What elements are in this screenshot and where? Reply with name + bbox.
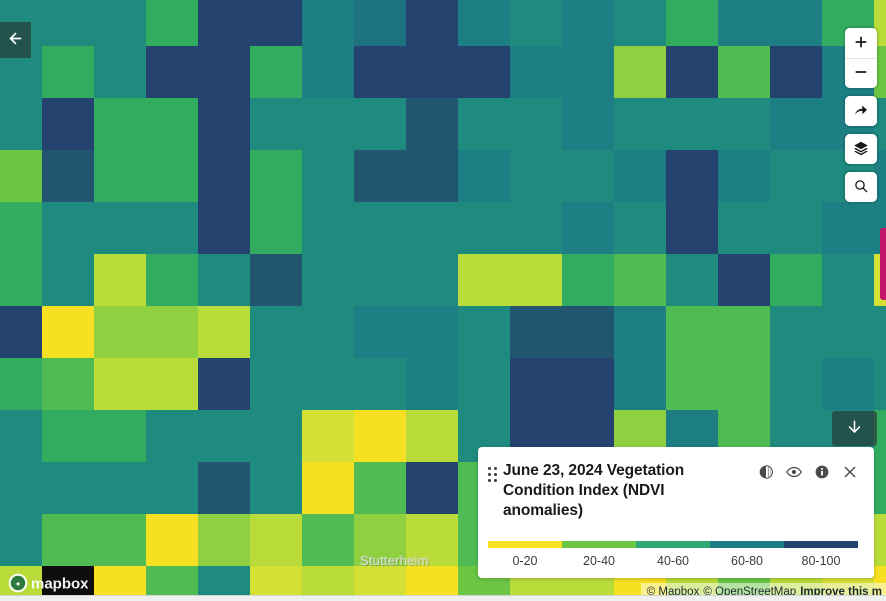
raster-cell [94,462,146,514]
raster-cell [562,46,614,98]
raster-cell [250,514,302,566]
search-button[interactable] [845,172,877,202]
share-button[interactable] [845,96,877,126]
map-application: Stutterheim [0,0,886,601]
raster-cell [614,46,666,98]
raster-cell [770,254,822,306]
raster-cell [0,462,42,514]
legend-scale-segment-4 [784,541,858,548]
raster-cell [666,306,718,358]
raster-cell [0,98,42,150]
legend-scale-bar [488,541,858,548]
raster-cell [250,254,302,306]
raster-cell [198,306,250,358]
raster-cell [458,306,510,358]
raster-cell [562,0,614,46]
raster-cell [250,150,302,202]
raster-cell [354,410,406,462]
raster-cell [510,202,562,254]
raster-cell [770,0,822,46]
minus-icon [853,64,869,83]
raster-cell [146,462,198,514]
raster-cell [562,150,614,202]
raster-cell [94,202,146,254]
close-button[interactable] [841,463,858,480]
raster-cell [510,0,562,46]
raster-cell [874,358,886,410]
raster-cell [458,202,510,254]
raster-cell [354,0,406,46]
zoom-control-stack [845,28,877,88]
raster-cell [406,202,458,254]
raster-cell [42,46,94,98]
raster-cell [458,46,510,98]
legend-title: June 23, 2024 Vegetation Condition Index… [503,461,751,520]
raster-cell [510,254,562,306]
raster-cell [770,150,822,202]
raster-cell [406,410,458,462]
raster-cell [510,98,562,150]
raster-cell [874,306,886,358]
raster-cell [562,254,614,306]
raster-cell [250,98,302,150]
raster-cell [822,202,874,254]
raster-cell [822,306,874,358]
raster-cell [354,150,406,202]
raster-cell [406,306,458,358]
visibility-button[interactable] [785,463,802,480]
raster-cell [406,254,458,306]
layer-legend-panel[interactable]: June 23, 2024 Vegetation Condition Index… [478,447,874,578]
legend-actions [757,463,858,480]
raster-cell [94,150,146,202]
raster-cell [94,514,146,566]
opacity-button[interactable] [757,463,774,480]
raster-cell [562,202,614,254]
raster-cell [354,462,406,514]
raster-cell [198,150,250,202]
raster-cell [614,98,666,150]
raster-cell [666,98,718,150]
raster-cell [874,514,886,566]
raster-cell [198,462,250,514]
zoom-out-button[interactable] [845,58,877,88]
raster-cell [42,254,94,306]
raster-cell [354,358,406,410]
raster-cell [770,98,822,150]
info-button[interactable] [813,463,830,480]
raster-cell [406,0,458,46]
raster-cell [406,46,458,98]
raster-cell [510,150,562,202]
raster-cell [510,46,562,98]
raster-cell [94,46,146,98]
raster-cell [822,254,874,306]
raster-cell [250,202,302,254]
legend-scale-label-4: 80-100 [784,554,858,568]
arrow-left-icon [7,30,24,50]
raster-cell [302,254,354,306]
share-arrow-icon [853,102,869,121]
raster-cell [0,410,42,462]
raster-cell [198,202,250,254]
raster-cell [562,358,614,410]
raster-cell [406,98,458,150]
raster-cell [666,254,718,306]
raster-cell [94,410,146,462]
raster-cell [718,306,770,358]
mapbox-wordmark-icon: mapbox [8,573,92,593]
raster-cell [198,358,250,410]
legend-scale-label-2: 40-60 [636,554,710,568]
raster-cell [0,306,42,358]
raster-cell [666,358,718,410]
raster-cell [198,410,250,462]
raster-cell [302,462,354,514]
legend-header: June 23, 2024 Vegetation Condition Index… [488,461,858,520]
arrow-down-icon [846,418,863,439]
raster-cell [302,46,354,98]
raster-cell [406,358,458,410]
raster-cell [0,514,42,566]
raster-cell [614,202,666,254]
raster-cell [94,0,146,46]
raster-cell [458,358,510,410]
legend-scale-segment-0 [488,541,562,548]
raster-cell [94,306,146,358]
raster-cell [302,0,354,46]
raster-cell [718,358,770,410]
raster-cell [94,98,146,150]
svg-text:mapbox: mapbox [31,576,89,593]
close-icon [842,464,858,480]
raster-cell [302,150,354,202]
raster-cell [146,514,198,566]
raster-cell [198,46,250,98]
raster-cell [718,254,770,306]
legend-scale-segment-1 [562,541,636,548]
raster-cell [718,202,770,254]
raster-cell [510,306,562,358]
back-button[interactable] [0,22,31,58]
raster-cell [250,410,302,462]
raster-cell [42,514,94,566]
raster-cell [354,98,406,150]
raster-cell [406,514,458,566]
raster-cell [146,150,198,202]
raster-cell [614,306,666,358]
raster-cell [42,306,94,358]
raster-cell [822,358,874,410]
search-icon [853,178,869,197]
raster-cell [458,150,510,202]
map-controls [845,28,877,202]
raster-cell [198,254,250,306]
mapbox-logo[interactable]: mapbox [8,573,92,593]
raster-cell [42,410,94,462]
raster-cell [770,358,822,410]
info-icon [814,464,830,480]
raster-cell [510,358,562,410]
layers-control-stack [845,134,877,164]
raster-cell [302,202,354,254]
raster-cell [302,306,354,358]
raster-cell [146,46,198,98]
raster-cell [458,0,510,46]
raster-cell [146,202,198,254]
raster-cell [718,98,770,150]
download-button[interactable] [832,411,877,446]
raster-cell [718,150,770,202]
raster-cell [146,254,198,306]
raster-cell [94,358,146,410]
raster-cell [354,46,406,98]
opacity-icon [758,464,774,480]
zoom-in-button[interactable] [845,28,877,58]
raster-cell [302,514,354,566]
legend-scale-labels: 0-2020-4040-6060-8080-100 [488,554,858,568]
raster-cell [302,358,354,410]
raster-cell [0,358,42,410]
raster-cell [614,358,666,410]
raster-cell [250,358,302,410]
drag-dots-icon[interactable] [488,467,497,482]
raster-cell [614,254,666,306]
raster-cell [146,98,198,150]
raster-cell [354,202,406,254]
raster-cell [302,410,354,462]
raster-cell [42,98,94,150]
raster-cell [42,462,94,514]
raster-cell [666,202,718,254]
raster-cell [666,46,718,98]
raster-cell [146,410,198,462]
legend-scale-label-0: 0-20 [488,554,562,568]
raster-cell [354,306,406,358]
raster-cell [770,46,822,98]
raster-cell [42,0,94,46]
legend-scale-label-1: 20-40 [562,554,636,568]
raster-cell [458,254,510,306]
plus-icon [853,34,869,53]
raster-cell [0,202,42,254]
raster-cell [770,202,822,254]
raster-cell [198,0,250,46]
raster-cell [354,254,406,306]
raster-cell [666,0,718,46]
raster-cell [0,254,42,306]
search-control-stack [845,172,877,202]
raster-cell [42,358,94,410]
raster-cell [874,462,886,514]
legend-scale-segment-2 [636,541,710,548]
share-control-stack [845,96,877,126]
raster-cell [354,514,406,566]
raster-cell [94,254,146,306]
raster-cell [562,306,614,358]
layers-button[interactable] [845,134,877,164]
raster-cell [0,150,42,202]
legend-scale-segment-3 [710,541,784,548]
eye-icon [786,464,802,480]
raster-cell [614,0,666,46]
raster-cell [770,306,822,358]
raster-cell [250,0,302,46]
legend-scale-label-3: 60-80 [710,554,784,568]
layers-icon [853,140,869,159]
raster-cell [42,150,94,202]
raster-cell [718,46,770,98]
raster-cell [146,306,198,358]
raster-cell [614,150,666,202]
raster-cell [250,462,302,514]
raster-cell [198,98,250,150]
raster-cell [718,0,770,46]
raster-cell [406,462,458,514]
raster-cell [42,202,94,254]
raster-cell [406,150,458,202]
raster-cell [562,98,614,150]
legend-color-scale: 0-2020-4040-6060-8080-100 [488,541,858,568]
raster-cell [250,306,302,358]
raster-cell [458,98,510,150]
edge-panel-sliver[interactable] [880,228,886,300]
bottom-rule [0,595,886,601]
raster-cell [250,46,302,98]
raster-cell [666,150,718,202]
raster-cell [302,98,354,150]
raster-cell [146,0,198,46]
raster-cell [146,358,198,410]
raster-cell [198,514,250,566]
